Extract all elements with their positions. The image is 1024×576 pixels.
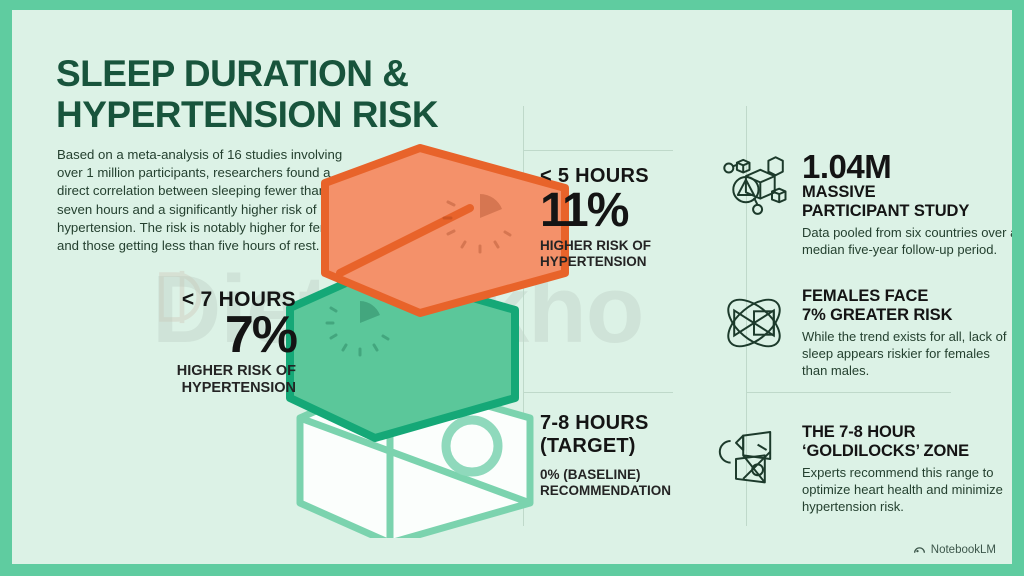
stat-goldilocks-zone: THE 7-8 HOUR‘GOLDILOCKS’ ZONE Experts re… (718, 423, 1012, 515)
notebooklm-label: NotebookLM (931, 544, 996, 556)
stat-goldilocks-heading: THE 7-8 HOUR‘GOLDILOCKS’ ZONE (802, 423, 1012, 461)
stat-goldilocks-description: Experts recommend this range to optimize… (802, 464, 1012, 516)
abstract-prisms-icon (718, 423, 790, 495)
divider-horizontal-mid-right (746, 392, 951, 393)
stat-females-heading: FEMALES FACE7% GREATER RISK (802, 287, 1012, 325)
poster-canvas: Diet Dekho SLEEP DURATION &HYPERTENSION … (12, 10, 1012, 564)
stat-participant-heading: MASSIVEPARTICIPANT STUDY (802, 183, 1012, 221)
tier-label-under-5: < 5 HOURS 11% HIGHER RISK OFHYPERTENSION (540, 165, 720, 270)
stat-females-description: While the trend exists for all, lack of … (802, 328, 1012, 380)
tier-sub-under-5: HIGHER RISK OFHYPERTENSION (540, 238, 720, 270)
prism-under-5-orange (325, 148, 565, 313)
stat-females-risk: FEMALES FACE7% GREATER RISK While the tr… (718, 287, 1012, 379)
tier-value-under-5: 11% (540, 187, 720, 235)
stat-participant-value: 1.04M (802, 150, 1012, 183)
isometric-prism-stack (280, 128, 580, 538)
tier-value-under-7: 7% (56, 310, 296, 361)
infographic-poster: Diet Dekho SLEEP DURATION &HYPERTENSION … (0, 0, 1024, 576)
page-title: SLEEP DURATION &HYPERTENSION RISK (56, 54, 526, 135)
network-cubes-icon (718, 150, 790, 222)
stat-participant-description: Data pooled from six countries over a me… (802, 224, 1012, 259)
tier-sub-target: 0% (BASELINE)RECOMMENDATION (540, 467, 740, 499)
notebooklm-badge: NotebookLM (913, 543, 996, 556)
tier-label-target: 7-8 HOURS(TARGET) 0% (BASELINE)RECOMMEND… (540, 412, 740, 499)
atom-orbits-icon (718, 287, 790, 359)
notebooklm-icon (913, 543, 926, 556)
stat-participant-study: 1.04M MASSIVEPARTICIPANT STUDY Data pool… (718, 150, 1012, 258)
tier-hours-target: 7-8 HOURS(TARGET) (540, 412, 740, 459)
tier-sub-under-7: HIGHER RISK OFHYPERTENSION (56, 363, 296, 397)
tier-label-under-7: < 7 HOURS 7% HIGHER RISK OFHYPERTENSION (56, 288, 296, 397)
